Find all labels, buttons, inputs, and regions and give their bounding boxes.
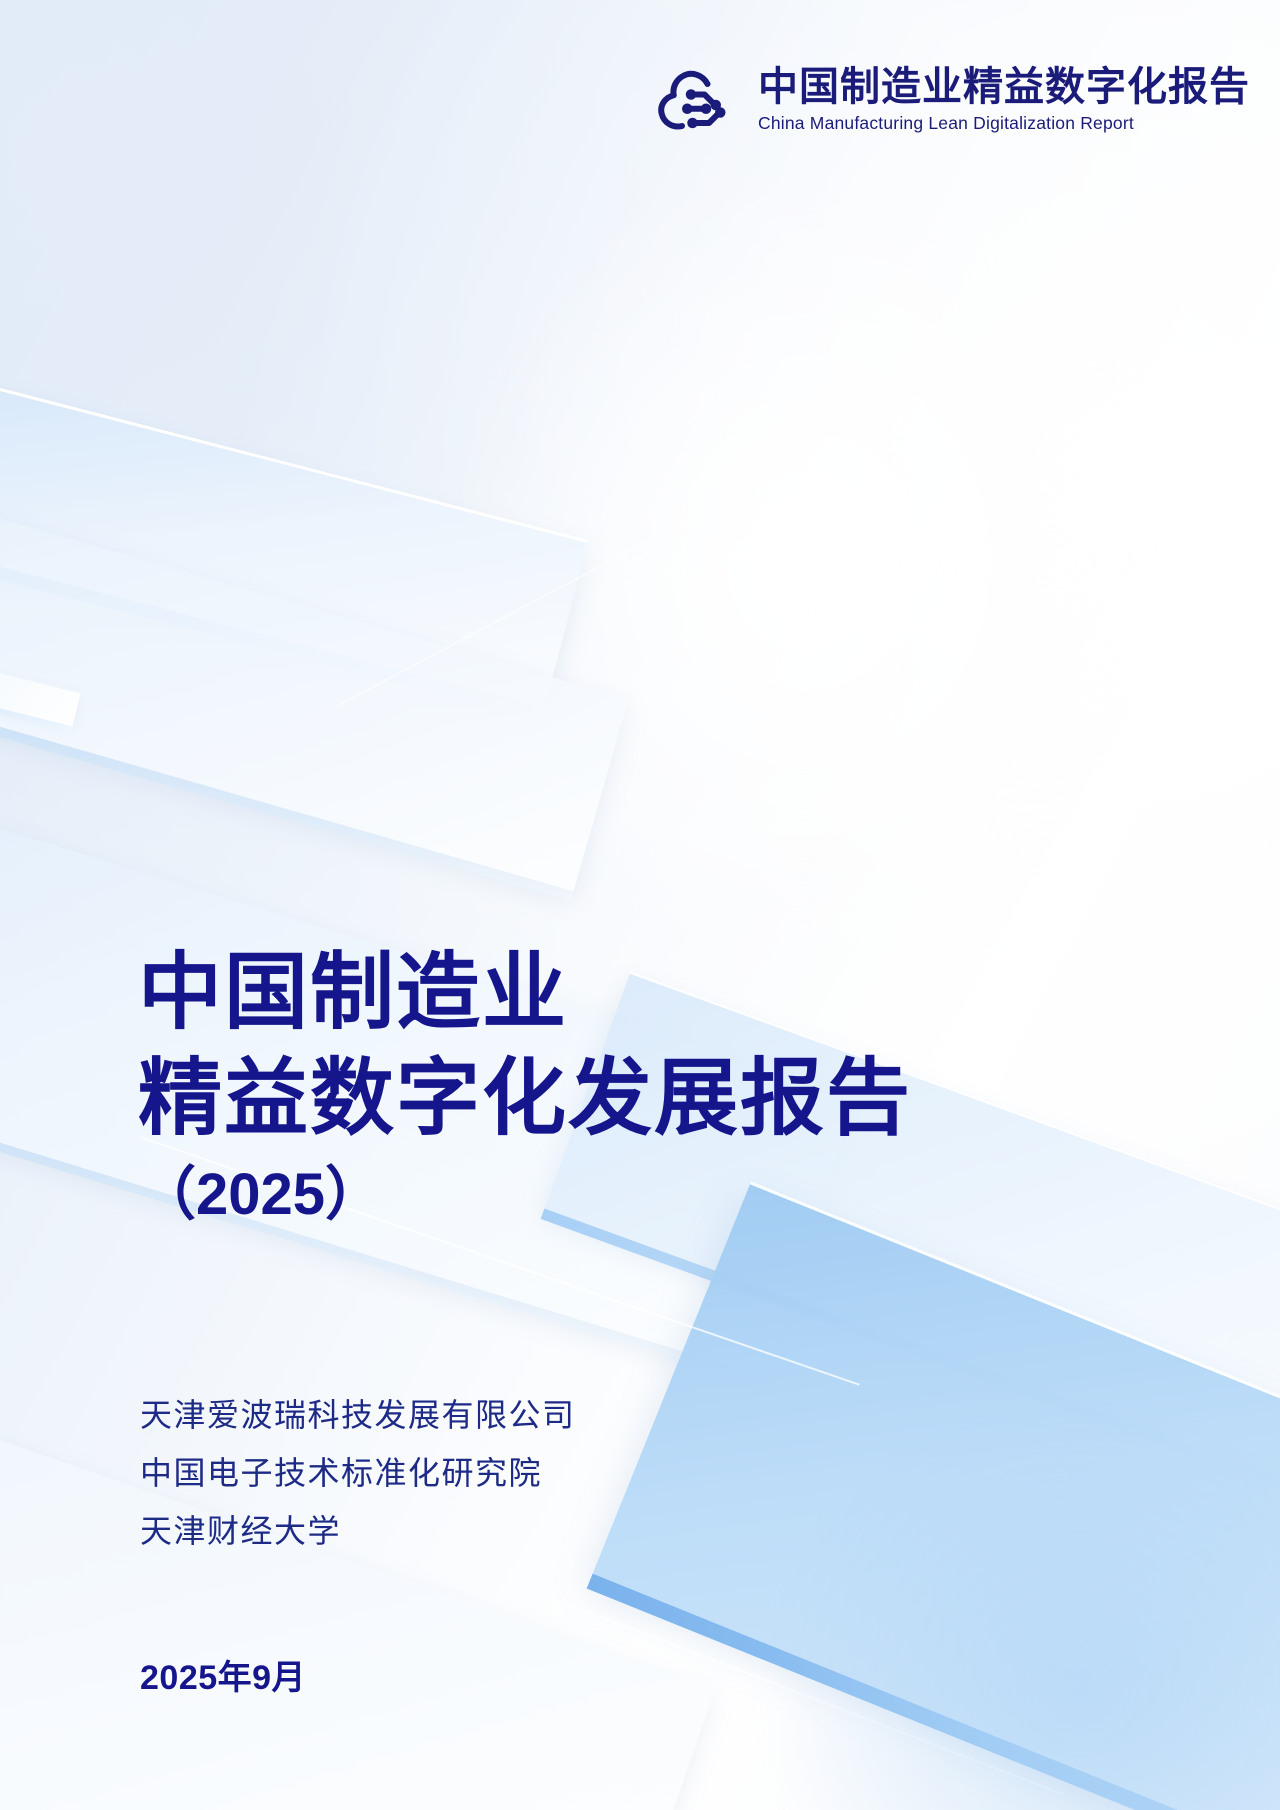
page-title-year: （2025） (138, 1158, 1148, 1232)
page-title-line-1: 中国制造业 (138, 940, 1148, 1046)
organization-list: 天津爱波瑞科技发展有限公司 中国电子技术标准化研究院 天津财经大学 (140, 1386, 940, 1561)
cloud-circuit-logo-icon (652, 66, 742, 144)
page-title-line-2: 精益数字化发展报告 (138, 1046, 1148, 1152)
cover-title-block: 中国制造业 精益数字化发展报告 （2025） (138, 940, 1148, 1232)
organization-item: 天津爱波瑞科技发展有限公司 (140, 1386, 940, 1444)
organization-item: 中国电子技术标准化研究院 (140, 1444, 940, 1502)
logo-title-en: China Manufacturing Lean Digitalization … (758, 113, 1250, 134)
report-logo-lockup: 中国制造业精益数字化报告 China Manufacturing Lean Di… (652, 64, 1250, 144)
logo-title-cn: 中国制造业精益数字化报告 (758, 66, 1250, 109)
logo-text-block: 中国制造业精益数字化报告 China Manufacturing Lean Di… (758, 64, 1250, 134)
report-cover-page: 中国制造业精益数字化报告 China Manufacturing Lean Di… (0, 0, 1280, 1810)
cover-content: 中国制造业精益数字化报告 China Manufacturing Lean Di… (0, 0, 1280, 1810)
organization-item: 天津财经大学 (140, 1502, 940, 1560)
publication-date: 2025年9月 (140, 1650, 306, 1699)
